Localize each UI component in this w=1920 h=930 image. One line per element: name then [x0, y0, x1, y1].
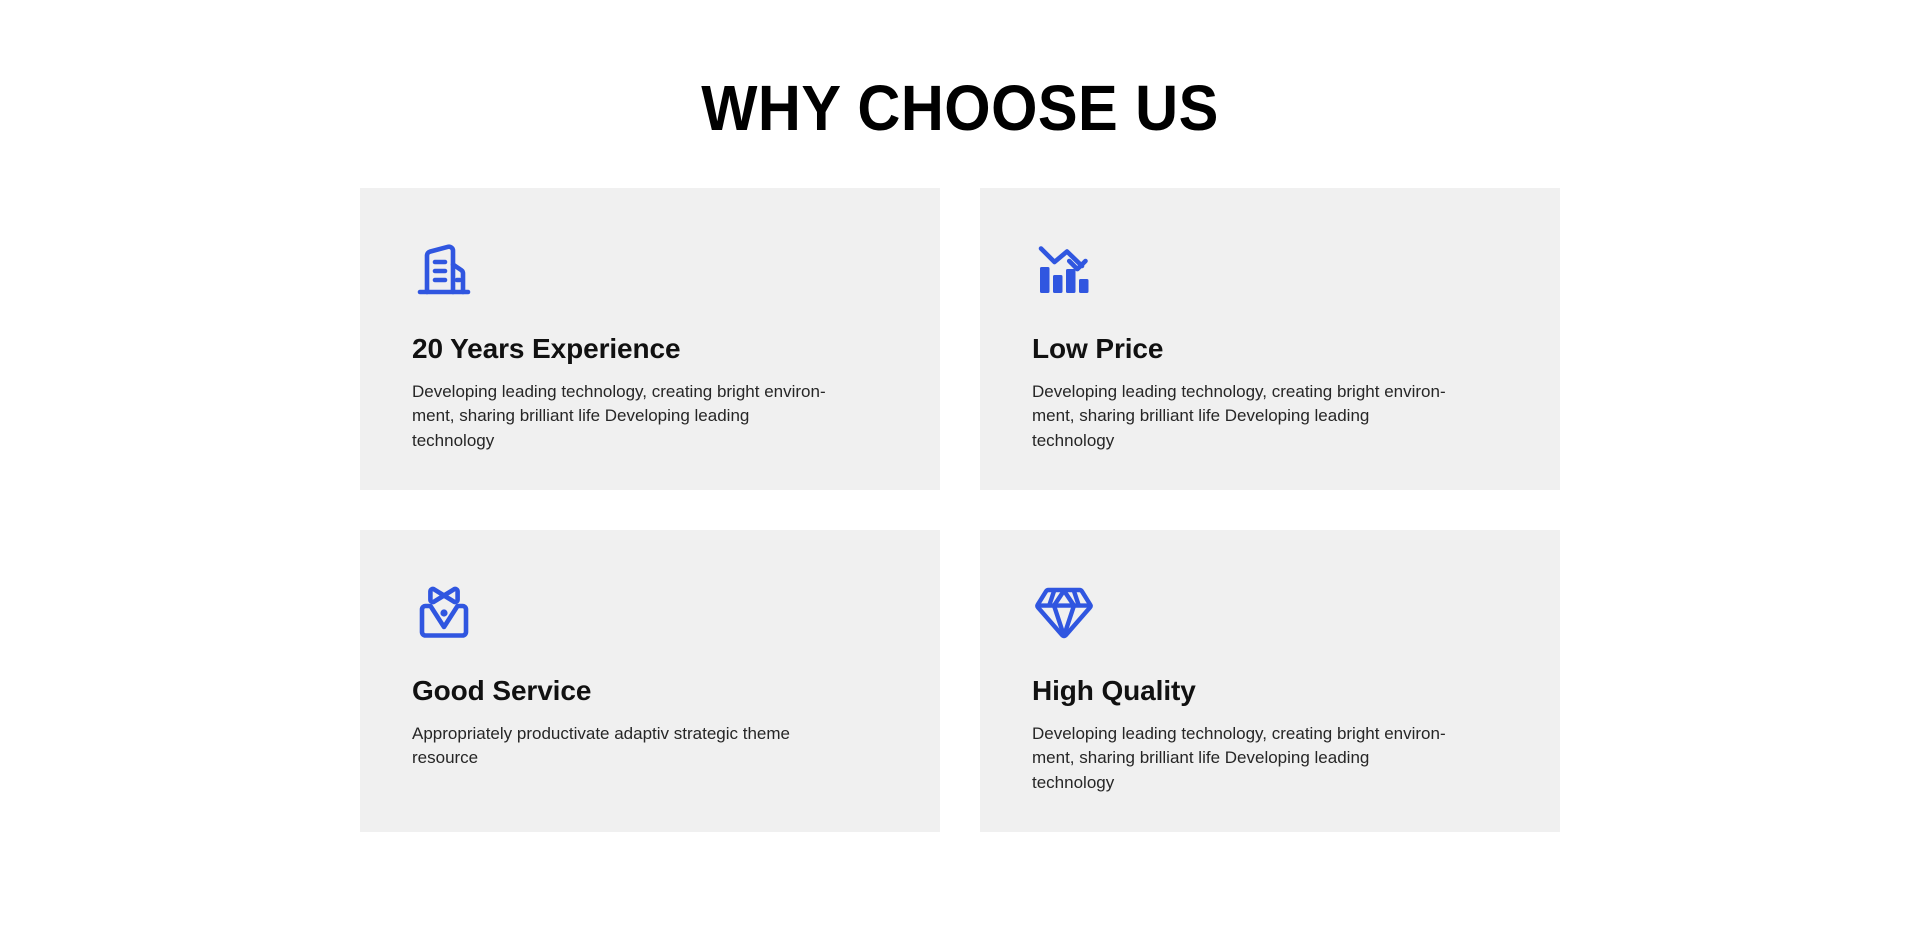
- diamond-gem-icon: [1032, 580, 1096, 644]
- feature-card-low-price[interactable]: Low Price Developing leading technology,…: [980, 188, 1560, 490]
- card-description: Developing leading technology, creating …: [1032, 722, 1447, 796]
- declining-bar-chart-icon: [1032, 238, 1096, 302]
- card-title: 20 Years Experience: [412, 332, 888, 366]
- card-title: Good Service: [412, 674, 888, 708]
- card-description: Appropriately productivate adaptiv strat…: [412, 722, 827, 771]
- feature-card-good-service[interactable]: Good Service Appropriately productivate …: [360, 530, 940, 832]
- office-building-icon: [412, 238, 476, 302]
- feature-card-20-years-experience[interactable]: 20 Years Experience Developing leading t…: [360, 188, 940, 490]
- card-description: Developing leading technology, creating …: [412, 380, 827, 454]
- page-title: WHY CHOOSE US: [67, 76, 1853, 140]
- card-description: Developing leading technology, creating …: [1032, 380, 1447, 454]
- waiter-bowtie-icon: [412, 580, 476, 644]
- card-title: High Quality: [1032, 674, 1508, 708]
- feature-card-high-quality[interactable]: High Quality Developing leading technolo…: [980, 530, 1560, 832]
- feature-cards-grid: 20 Years Experience Developing leading t…: [360, 188, 1560, 832]
- why-choose-us-section: WHY CHOOSE US 20 Years Experience Develo…: [0, 0, 1920, 930]
- card-title: Low Price: [1032, 332, 1508, 366]
